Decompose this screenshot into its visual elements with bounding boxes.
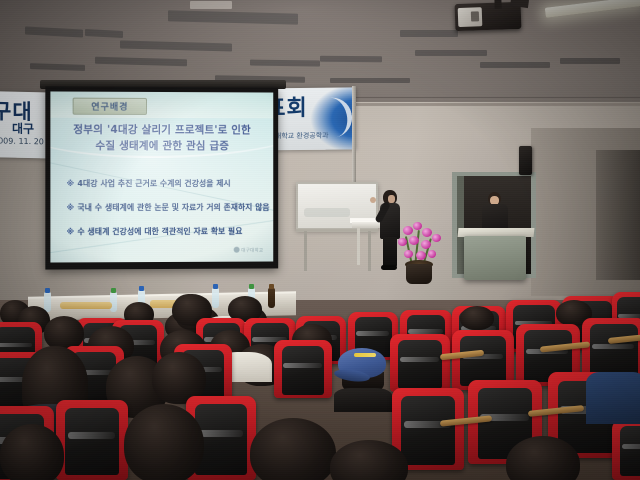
projector-lens	[458, 7, 483, 27]
seat[interactable]	[274, 340, 332, 398]
banner-left-date: 2009. 11. 20	[0, 136, 44, 146]
front-side-table-leg	[357, 227, 360, 265]
cap-person-body	[334, 388, 392, 412]
seat[interactable]	[56, 400, 128, 480]
presenter-face	[388, 195, 395, 203]
projector-arm	[510, 0, 529, 8]
whiteboard-leg-left	[304, 231, 307, 271]
ceiling-projector	[455, 2, 522, 31]
whiteboard-leg-right	[368, 231, 371, 271]
audience-head	[460, 306, 494, 330]
lecture-hall-photo: 구대 대구 2009. 11. 20 발표회 표회 대구대학교 환경공학과 연구…	[0, 0, 640, 480]
water-bottle	[212, 288, 219, 308]
seat[interactable]	[612, 420, 640, 480]
projector-mount	[494, 0, 501, 9]
seat[interactable]	[390, 334, 450, 392]
projected-slide: 연구배경 정부의 '4대강 살리기 프로젝트'로 인한 수질 생태계에 관한 관…	[50, 91, 273, 262]
audience-head	[44, 316, 84, 350]
cap-logo	[354, 353, 376, 357]
audience-denim	[586, 372, 640, 424]
projection-screen-frame: 연구배경 정부의 '4대강 살리기 프로젝트'로 인한 수질 생태계에 관한 관…	[45, 86, 278, 269]
audience-head	[0, 424, 64, 480]
orchid-plant	[392, 222, 448, 284]
bottle-brown	[268, 288, 275, 308]
audience-member-with-cap	[336, 348, 390, 406]
audience-head	[124, 404, 204, 480]
snack-tray	[60, 302, 112, 309]
audience-head	[250, 418, 336, 480]
wall-speaker-icon	[519, 146, 532, 175]
whiteboard-tray	[296, 229, 378, 232]
banner-left-mid-text: 대구	[12, 120, 34, 137]
podium	[464, 236, 526, 280]
orchid-pot	[406, 264, 432, 284]
presenter-hand	[370, 197, 376, 203]
